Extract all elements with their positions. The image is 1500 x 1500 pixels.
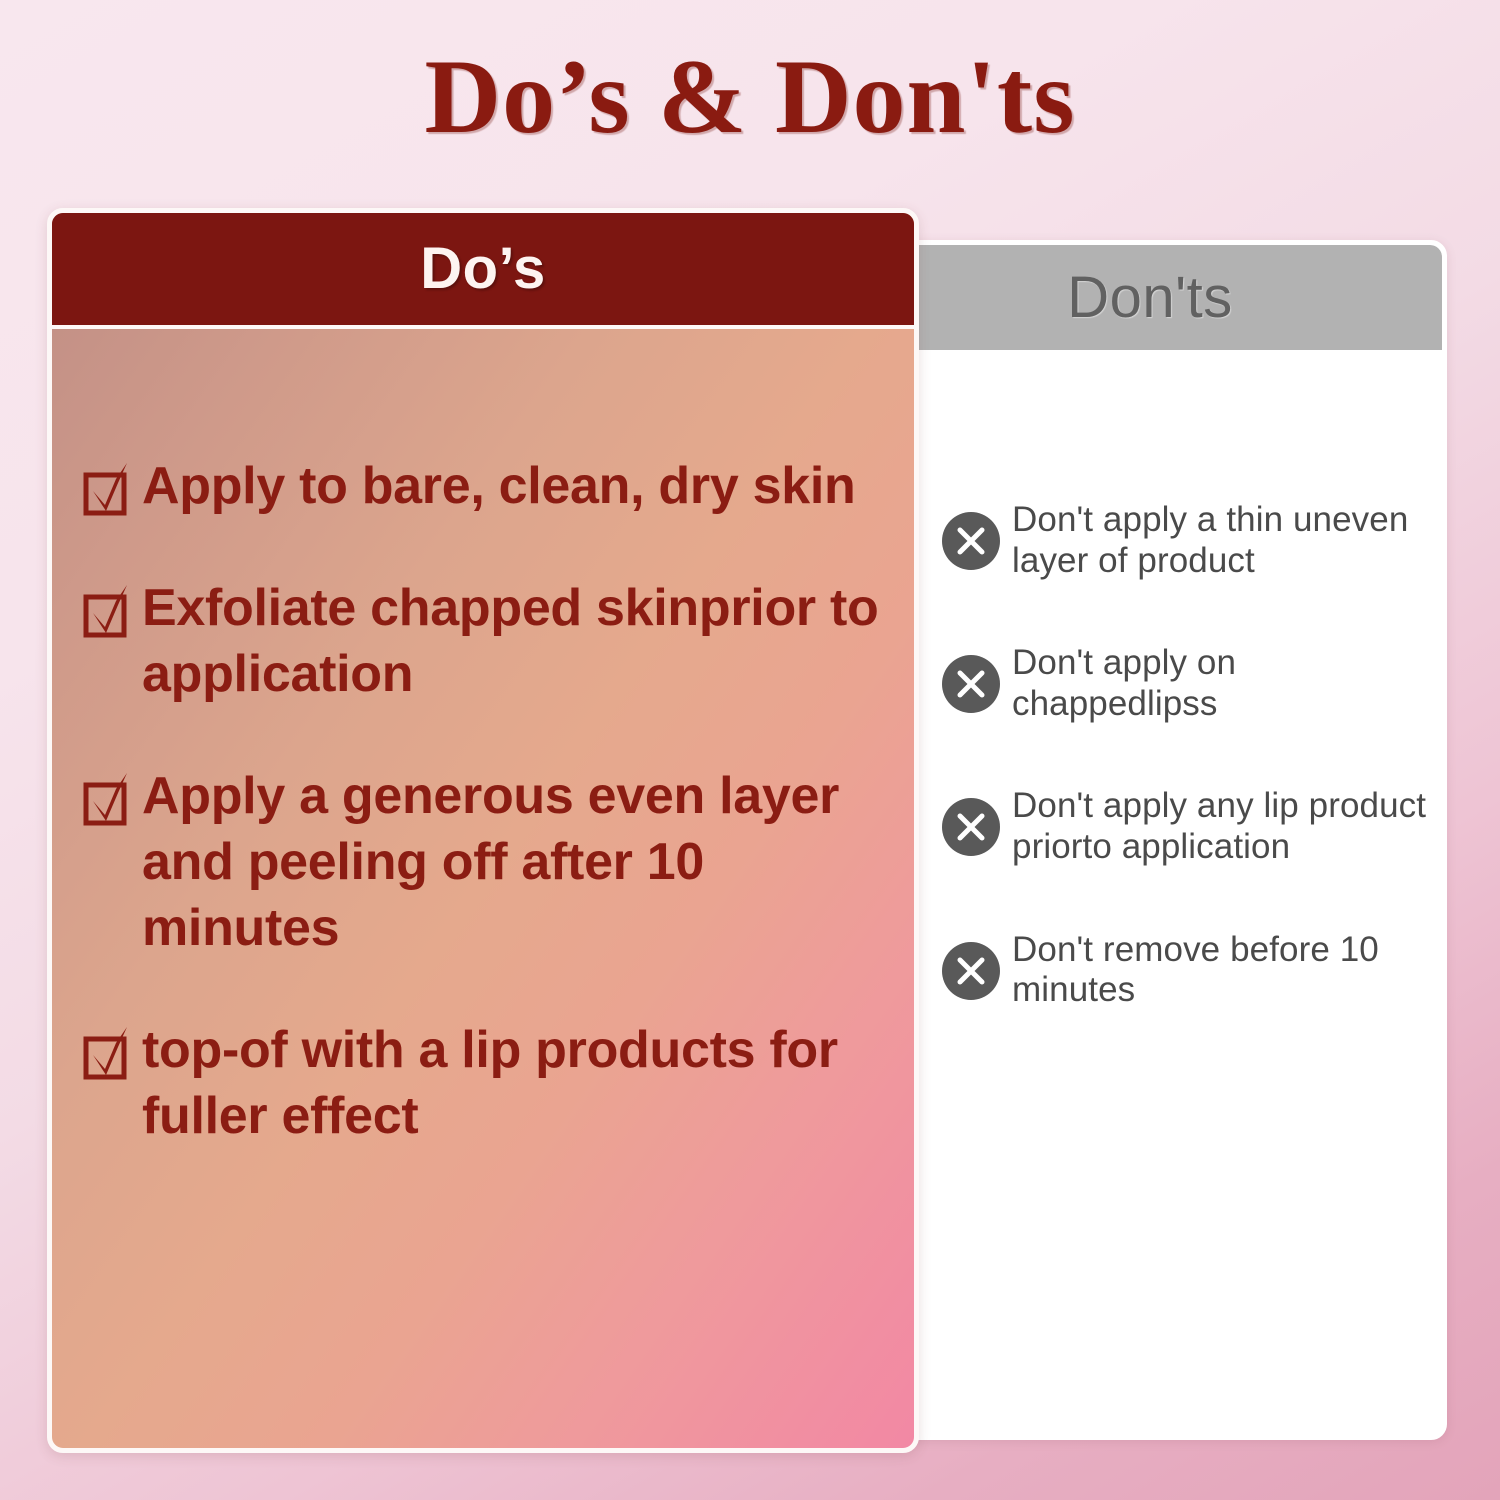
list-item-label: Don't apply any lip product priorto appl… [1012,786,1442,867]
list-item-label: Don't apply on chappedlipss [1012,643,1442,724]
list-item-label: Don't apply a thin uneven layer of produ… [1012,500,1442,581]
page-title: Do’s & Don'ts [0,38,1500,157]
checkbox-checked-icon [82,1025,134,1081]
list-item: top-of with a lip products for fuller ef… [82,1017,912,1149]
list-item-label: Apply to bare, clean, dry skin [142,453,855,519]
list-item-label: Exfoliate chapped skinprior to applicati… [142,575,882,707]
checkbox-checked-icon [82,583,134,639]
list-item: Don't apply any lip product priorto appl… [942,786,1442,867]
list-item: Don't apply on chappedlipss [942,643,1442,724]
dos-header-label: Do’s [420,235,546,302]
list-item: Apply to bare, clean, dry skin [82,453,912,519]
donts-list: Don't apply a thin uneven layer of produ… [942,500,1442,1073]
list-item: Exfoliate chapped skinprior to applicati… [82,575,912,707]
list-item-label: Don't remove before 10 minutes [1012,930,1442,1011]
dos-card: Do’s Apply to bare, clean, dry skin Exfo… [47,208,919,1453]
donts-card-header: Don'ts [858,245,1442,350]
list-item-label: top-of with a lip products for fuller ef… [142,1017,882,1149]
donts-header-label: Don'ts [1067,264,1233,331]
list-item: Apply a generous even layer and peeling … [82,763,912,961]
list-item-label: Apply a generous even layer and peeling … [142,763,882,961]
circle-x-icon [942,798,1000,856]
dos-list: Apply to bare, clean, dry skin Exfoliate… [82,453,912,1205]
checkbox-checked-icon [82,771,134,827]
circle-x-icon [942,512,1000,570]
list-item: Don't apply a thin uneven layer of produ… [942,500,1442,581]
dos-card-header: Do’s [51,212,915,329]
circle-x-icon [942,655,1000,713]
list-item: Don't remove before 10 minutes [942,930,1442,1011]
circle-x-icon [942,942,1000,1000]
donts-card: Don'ts Don't apply a thin uneven layer o… [853,240,1447,1440]
checkbox-checked-icon [82,461,134,517]
